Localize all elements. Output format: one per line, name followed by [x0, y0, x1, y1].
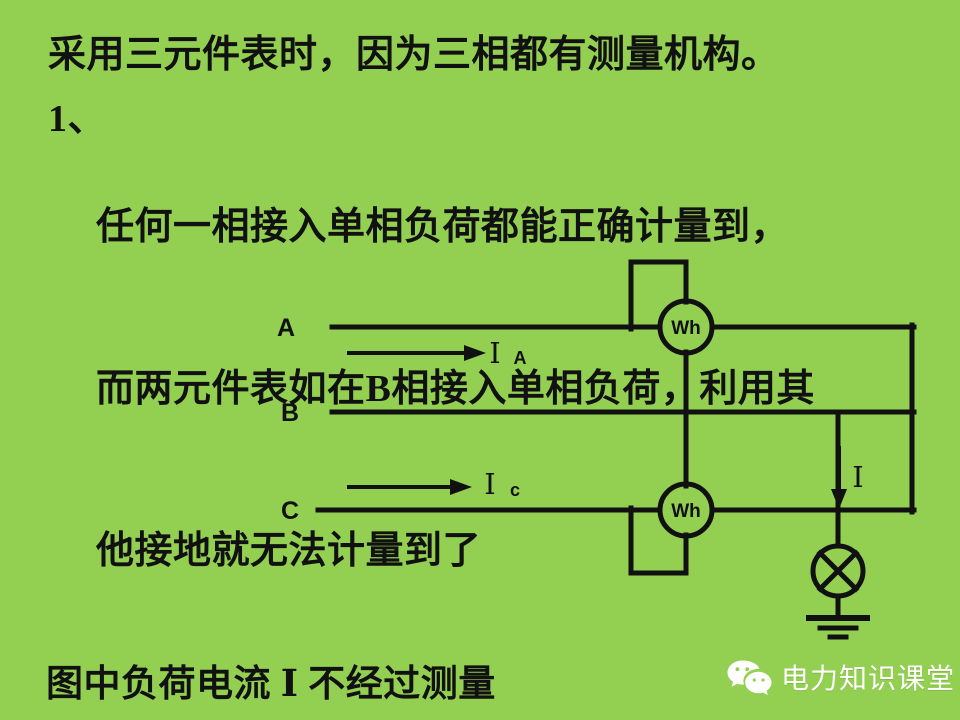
caption-text: 图中负荷电流 Ⅰ 不经过测量 机构，故表计无法计量到。 [46, 570, 496, 720]
watermark-label: 电力知识课堂 [781, 657, 955, 697]
current-c-sublabel: c [510, 480, 520, 500]
meter-bottom-label: Wh [671, 501, 701, 522]
phase-label-c: C [281, 497, 299, 525]
slide-canvas: 采用三元件表时，因为三相都有测量机构。 1、 任何一相接入单相负荷都能正确计量到… [0, 0, 960, 720]
wechat-logo-icon [726, 659, 772, 695]
current-a-label: Ⅰ [489, 338, 500, 370]
phase-label-b: B [281, 399, 299, 427]
current-c-label: Ⅰ [484, 469, 495, 501]
current-load-label: Ⅰ [852, 462, 863, 494]
current-c-arrow-head [450, 479, 472, 495]
caption-line-1: 图中负荷电流 Ⅰ 不经过测量 [46, 662, 496, 708]
phase-label-a: A [277, 314, 295, 342]
watermark: 电力知识课堂 [726, 657, 955, 697]
meter-top-label: Wh [671, 318, 701, 339]
current-a-sublabel: A [514, 348, 527, 368]
current-load-arrow-head [831, 489, 847, 509]
current-a-arrow-head [464, 345, 486, 361]
